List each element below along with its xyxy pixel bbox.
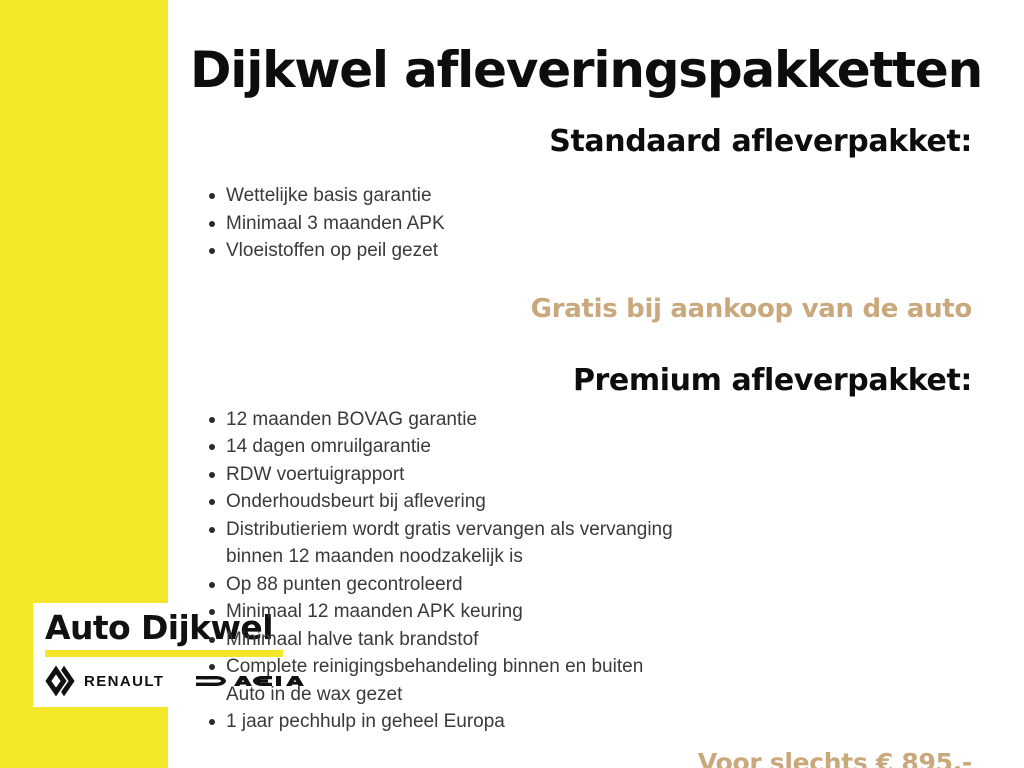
list-item: Distributieriem wordt gratis vervangen a…: [190, 516, 982, 571]
list-item: RDW voertuigrapport: [190, 461, 982, 489]
list-item: Wettelijke basis garantie: [190, 182, 982, 210]
bullet-dot-icon: [209, 193, 215, 199]
list-item-label: Distributieriem wordt gratis vervangen a…: [226, 519, 673, 540]
list-item-continuation: binnen 12 maanden noodzakelijk is: [226, 543, 982, 571]
list-item-label: RDW voertuigrapport: [226, 464, 404, 485]
list-item-label: Minimaal halve tank brandstof: [226, 629, 478, 650]
premium-package-heading: Premium afleverpakket:: [190, 364, 982, 398]
list-item-continuation: Auto in de wax gezet: [226, 681, 982, 709]
list-item: Complete reinigingsbehandeling binnen en…: [190, 653, 982, 708]
list-item: 1 jaar pechhulp in geheel Europa: [190, 708, 982, 736]
bullet-dot-icon: [209, 527, 215, 533]
list-item-label: 12 maanden BOVAG garantie: [226, 409, 477, 430]
bullet-dot-icon: [209, 609, 215, 615]
list-item: Onderhoudsbeurt bij aflevering: [190, 488, 982, 516]
list-item-label: Minimaal 3 maanden APK: [226, 213, 445, 234]
premium-package-price: Voor slechts € 895,-: [190, 736, 982, 768]
bullet-dot-icon: [209, 664, 215, 670]
list-item: Vloeistoffen op peil gezet: [190, 237, 982, 265]
list-item-label: Op 88 punten gecontroleerd: [226, 574, 463, 595]
bullet-dot-icon: [209, 248, 215, 254]
list-item-label: Minimaal 12 maanden APK keuring: [226, 601, 523, 622]
bullet-dot-icon: [209, 719, 215, 725]
list-item: Minimaal halve tank brandstof: [190, 626, 982, 654]
standard-package-heading: Standaard afleverpakket:: [190, 98, 982, 159]
renault-wordmark: RENAULT: [84, 673, 164, 690]
bullet-dot-icon: [209, 444, 215, 450]
content-column: Dijkwel afleveringspakketten Standaard a…: [190, 0, 982, 768]
bullet-dot-icon: [209, 221, 215, 227]
list-item-label: 14 dagen omruilgarantie: [226, 436, 431, 457]
list-item-label: Complete reinigingsbehandeling binnen en…: [226, 656, 643, 677]
bullet-dot-icon: [209, 582, 215, 588]
standard-package-tagline: Gratis bij aankoop van de auto: [190, 265, 982, 364]
premium-package-list: 12 maanden BOVAG garantie 14 dagen omrui…: [190, 406, 982, 736]
list-item: 12 maanden BOVAG garantie: [190, 406, 982, 434]
list-item-label: Wettelijke basis garantie: [226, 185, 432, 206]
bullet-dot-icon: [209, 417, 215, 423]
list-item: Op 88 punten gecontroleerd: [190, 571, 982, 599]
bullet-dot-icon: [209, 472, 215, 478]
list-item: 14 dagen omruilgarantie: [190, 433, 982, 461]
bullet-dot-icon: [209, 637, 215, 643]
list-item: Minimaal 12 maanden APK keuring: [190, 598, 982, 626]
list-item-label: Onderhoudsbeurt bij aflevering: [226, 491, 486, 512]
renault-diamond-icon: [45, 664, 75, 698]
bullet-dot-icon: [209, 499, 215, 505]
standard-package-list: Wettelijke basis garantie Minimaal 3 maa…: [190, 182, 982, 265]
page-title: Dijkwel afleveringspakketten: [190, 0, 982, 98]
list-item: Minimaal 3 maanden APK: [190, 210, 982, 238]
list-item-label: 1 jaar pechhulp in geheel Europa: [226, 711, 505, 732]
poster-canvas: Auto Dijkwel RENAULT: [0, 0, 1024, 768]
list-item-label: Vloeistoffen op peil gezet: [226, 240, 438, 261]
